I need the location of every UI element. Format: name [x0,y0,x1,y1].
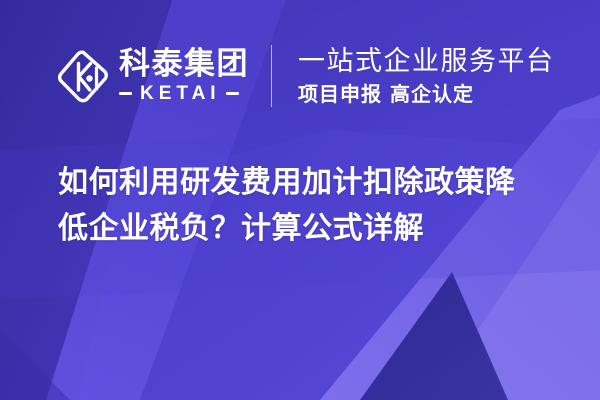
logo-dash-left [119,92,132,95]
brand-logo[interactable]: 科泰集团 KETAI [56,48,249,104]
logo-en-row: KETAI [119,84,249,103]
logo-dash-right [226,92,239,95]
tagline-primary: 一站式企业服务平台 [298,46,555,78]
tagline-block: 一站式企业服务平台 项目申报 高企认定 [298,46,555,107]
bg-shape-bottom-navy-triangle [360,272,508,400]
header-divider [271,45,272,107]
ketai-diamond-k-logo-icon [56,48,110,104]
logo-company-name-en: KETAI [132,84,226,103]
headline: 如何利用研发费用加计扣除政策降 低企业税负？计算公式详解 [58,160,558,252]
banner-header: 科泰集团 KETAI 一站式企业服务平台 项目申报 高企认定 [0,34,600,118]
logo-company-name-cn: 科泰集团 [119,49,249,81]
headline-line-2: 低企业税负？计算公式详解 [58,206,558,252]
promo-banner: 科泰集团 KETAI 一站式企业服务平台 项目申报 高企认定 如何利用研发费用加… [0,0,600,400]
logo-wordmark: 科泰集团 KETAI [119,49,249,103]
tagline-secondary: 项目申报 高企认定 [298,82,555,106]
headline-line-1: 如何利用研发费用加计扣除政策降 [58,160,558,206]
bg-shape-bottom-left-notch [0,330,70,400]
